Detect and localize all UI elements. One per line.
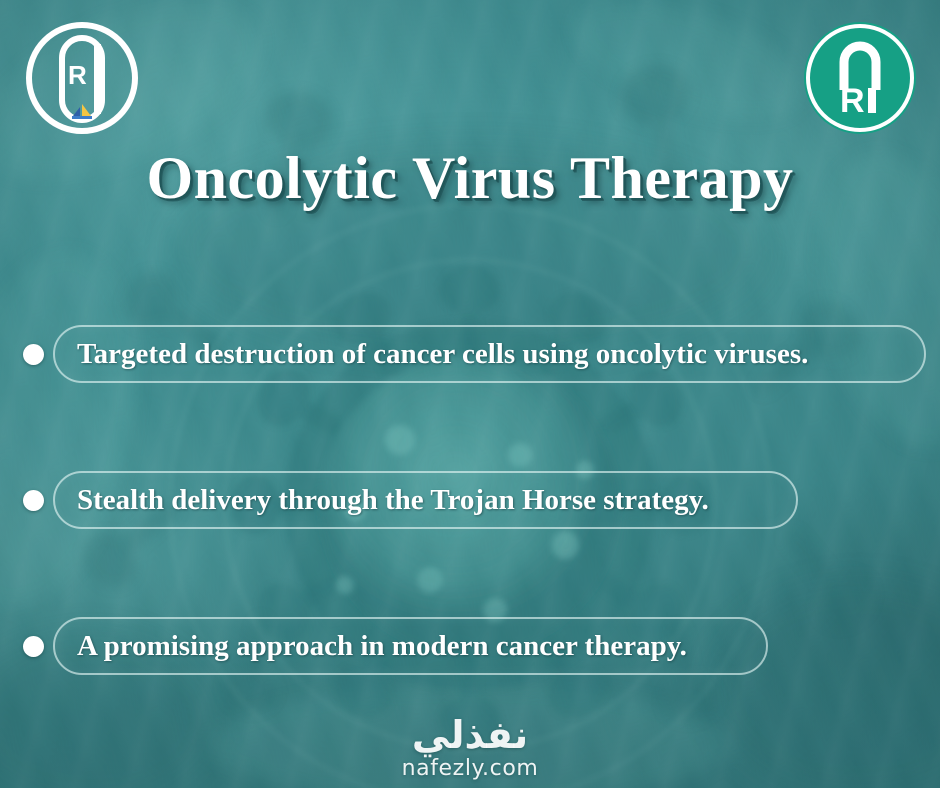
svg-text:R: R — [68, 60, 87, 90]
bullet-pill: Stealth delivery through the Trojan Hors… — [53, 471, 798, 529]
bullet-pill: Targeted destruction of cancer cells usi… — [53, 325, 926, 383]
bullet-pill: A promising approach in modern cancer th… — [53, 617, 768, 675]
page-title: Oncolytic Virus Therapy — [0, 148, 940, 208]
slide-canvas: R R Oncolytic Virus Therapy Targeted des… — [0, 0, 940, 788]
bullet-text: A promising approach in modern cancer th… — [77, 632, 687, 661]
bullet-text: Stealth delivery through the Trojan Hors… — [77, 486, 709, 515]
bullet-dot-icon — [23, 636, 44, 657]
svg-text:R: R — [840, 82, 865, 120]
bullet-text: Targeted destruction of cancer cells usi… — [77, 340, 808, 369]
list-item: Stealth delivery through the Trojan Hors… — [0, 464, 940, 536]
bullet-dot-icon — [23, 344, 44, 365]
nri-outline-logo[interactable]: R — [22, 18, 142, 138]
bullet-list: Targeted destruction of cancer cells usi… — [0, 318, 940, 756]
list-item: A promising approach in modern cancer th… — [0, 610, 940, 682]
nri-solid-logo[interactable]: R — [800, 18, 920, 138]
bullet-dot-icon — [23, 490, 44, 511]
list-item: Targeted destruction of cancer cells usi… — [0, 318, 940, 390]
